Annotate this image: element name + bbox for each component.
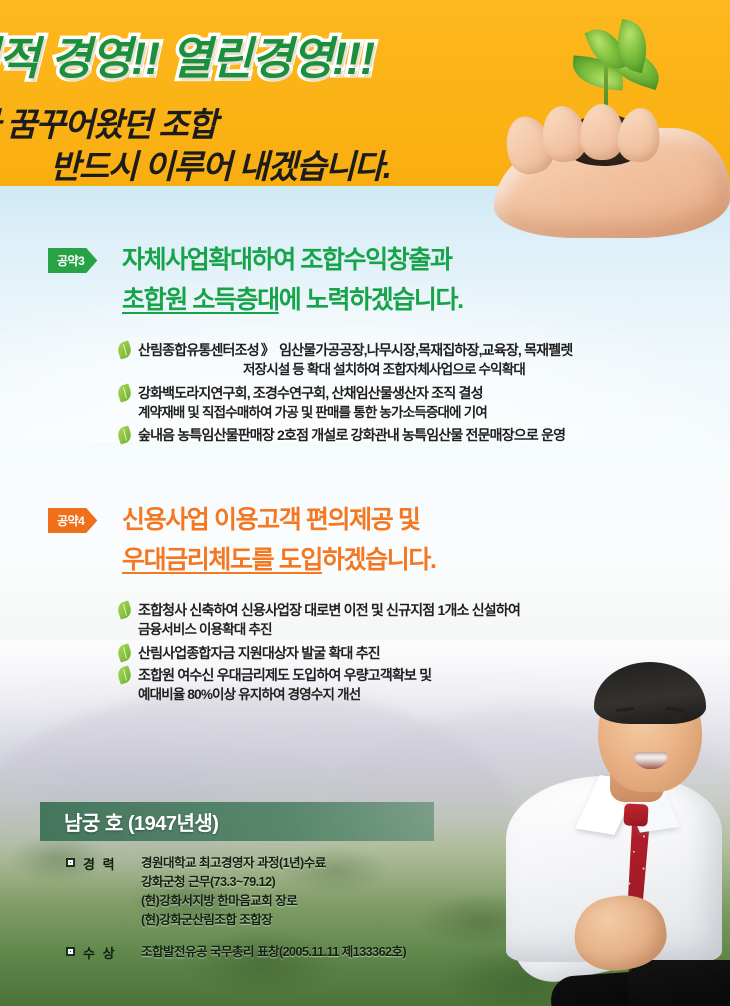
bullet-lead: 산림사업종합자금 지원대상자 발굴 확대 추진 [118, 643, 718, 663]
bullet-subtext: 계약재배 및 직접수매하여 가공 및 판매를 통한 농가소득증대에 기여 [118, 403, 718, 423]
campaign-poster: 력적 경영!! 열린경영!!! 가 꿈꾸어왔던 조합 반드시 이루어 내겠습니다… [0, 0, 730, 1006]
bullet-subtext: 금융서비스 이용확대 추진 [118, 620, 718, 640]
leaf-bullet-icon [116, 600, 133, 619]
bullet-item: 조합청사 신축하여 신용사업장 대로변 이전 및 신규지점 1개소 신설하여 금… [118, 600, 718, 641]
career-item: 강화군청 근무(73.3~79.12) [141, 873, 506, 892]
leaf-bullet-icon [116, 425, 133, 444]
pledge-4-title-rest: 하겠습니다. [322, 546, 436, 574]
bullet-subtext: 저장시설 등 확대 설치하여 조합자체사업으로 수익확대 [118, 360, 718, 380]
bullet-text: 숲내음 농특임산물판매장 2호점 개설로 강화관내 농특임산물 전문매장으로 운… [138, 425, 565, 445]
career-row: 경 력 경원대학교 최고경영자 과정(1년)수료 강화군청 근무(73.3~79… [66, 854, 506, 930]
bullet-rest: 임산물가공공장,나무시장,목재집하장,교육장, 목재펠렛 [276, 342, 572, 358]
award-label: 수 상 [83, 943, 141, 962]
pledge-3-title-underlined: 초합원 소득층대 [122, 286, 279, 314]
suit-jacket-right [628, 960, 730, 1006]
finger-3 [580, 104, 624, 160]
bullet-text: 조합원 여수신 우대금리제도 도입하여 우량고객확보 및 [138, 665, 431, 685]
career-label: 경 력 [83, 854, 141, 873]
pledge-4-title-line1: 신용사업 이용고객 편의제공 및 [122, 500, 419, 536]
award-values: 조합발전유공 국무총리 표창(2005.11.11 제133362호) [141, 943, 506, 962]
bullet-lead: 조합원 여수신 우대금리제도 도입하여 우량고객확보 및 [118, 665, 718, 685]
candidate-profile: 경 력 경원대학교 최고경영자 과정(1년)수료 강화군청 근무(73.3~79… [66, 854, 506, 963]
bullet-item: 산림사업종합자금 지원대상자 발굴 확대 추진 [118, 643, 718, 663]
pledge-4-title-underlined: 우대금리체도를 도입 [122, 546, 322, 574]
leaf-bullet-icon [116, 340, 133, 359]
bullet-text: 조합청사 신축하여 신용사업장 대로변 이전 및 신규지점 1개소 신설하여 [138, 600, 520, 620]
career-item: (현)강화군산림조합 조합장 [141, 911, 506, 930]
bullet-text: 강화백도라지연구회, 조경수연구회, 산채임산물생산자 조직 결성 [138, 383, 483, 403]
bullet-item: 숲내음 농특임산물판매장 2호점 개설로 강화관내 농특임산물 전문매장으로 운… [118, 425, 718, 445]
leaf-bullet-icon [116, 383, 133, 402]
bullet-lead: 조합청사 신축하여 신용사업장 대로변 이전 및 신규지점 1개소 신설하여 [118, 600, 718, 620]
career-item: 경원대학교 최고경영자 과정(1년)수료 [141, 854, 506, 873]
pledge-3-title-line1: 자체사업확대하여 조합수익창출과 [122, 240, 452, 276]
bullet-text: 산림종합유통센터조성》 임산물가공공장,나무시장,목재집하장,교육장, 목재펠렛 [138, 340, 572, 360]
candidate-name-bar: 남궁 호 (1947년생) [40, 802, 434, 841]
bullet-lead: 숲내음 농특임산물판매장 2호점 개설로 강화관내 농특임산물 전문매장으로 운… [118, 425, 718, 445]
bullet-lead: 산림종합유통센터조성》 임산물가공공장,나무시장,목재집하장,교육장, 목재펠렛 [118, 340, 718, 360]
bullet-item: 산림종합유통센터조성》 임산물가공공장,나무시장,목재집하장,교육장, 목재펠렛… [118, 340, 718, 381]
pledge-3-bullets: 산림종합유통센터조성》 임산물가공공장,나무시장,목재집하장,교육장, 목재펠렛… [118, 340, 718, 447]
award-row: 수 상 조합발전유공 국무총리 표창(2005.11.11 제133362호) [66, 943, 506, 962]
pledge-3-title-rest: 에 노력하겠습니다. [279, 286, 463, 314]
candidate-photo [482, 672, 730, 1006]
pledge-4-bullets: 조합청사 신축하여 신용사업장 대로변 이전 및 신규지점 1개소 신설하여 금… [118, 600, 718, 707]
career-values: 경원대학교 최고경영자 과정(1년)수료 강화군청 근무(73.3~79.12)… [141, 854, 506, 930]
bullet-emphasis: 산림종합유통센터조성 [138, 342, 259, 358]
award-item: 조합발전유공 국무총리 표창(2005.11.11 제133362호) [141, 943, 506, 962]
chevron-icon: 》 [259, 342, 276, 358]
bullet-lead: 강화백도라지연구회, 조경수연구회, 산채임산물생산자 조직 결성 [118, 383, 718, 403]
square-marker-icon [66, 947, 75, 956]
tie-knot [623, 803, 648, 826]
pledge-3-title-line2: 초합원 소득층대에 노력하겠습니다. [122, 280, 463, 316]
banner-headline-line3: 반드시 이루어 내겠습니다. [50, 140, 390, 186]
banner-headline-green: 력적 경영!! 열린경영!!! [0, 22, 374, 87]
banner-headline-line2: 가 꿈꾸어왔던 조합 [0, 98, 216, 146]
bullet-item: 조합원 여수신 우대금리제도 도입하여 우량고객확보 및 예대비율 80%이상 … [118, 665, 718, 706]
career-item: (현)강화서지방 한마음교회 장로 [141, 892, 506, 911]
seedling-plant-icon [476, 28, 730, 224]
bullet-text: 산림사업종합자금 지원대상자 발굴 확대 추진 [138, 643, 380, 663]
bullet-subtext: 예대비율 80%이상 유지하여 경영수지 개선 [118, 685, 718, 705]
bullet-item: 강화백도라지연구회, 조경수연구회, 산채임산물생산자 조직 결성 계약재배 및… [118, 383, 718, 424]
pledge-4-title-line2: 우대금리체도를 도입하겠습니다. [122, 540, 436, 576]
leaf-bullet-icon [116, 643, 133, 662]
leaf-bullet-icon [116, 665, 133, 684]
candidate-name: 남궁 호 (1947년생) [64, 807, 218, 836]
square-marker-icon [66, 858, 75, 867]
